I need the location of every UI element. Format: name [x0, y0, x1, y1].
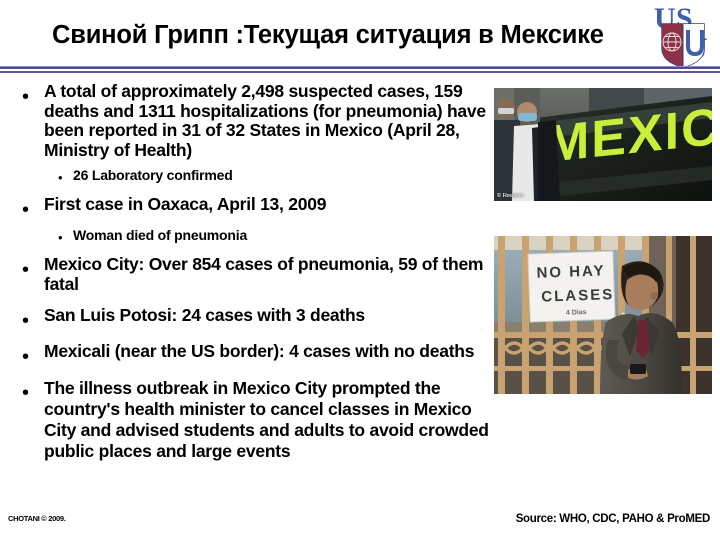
bullet-marker: • [58, 231, 73, 244]
svg-text:4 Dias: 4 Dias [566, 309, 587, 317]
list-item: • Woman died of pneumonia [22, 227, 490, 244]
photo-mexico-bus: MEXICO © Reuters © Reuters [494, 88, 712, 201]
slide-header: Свиной Грипп :Текущая ситуация в Мексике… [0, 0, 720, 72]
svg-text:CLASES: CLASES [541, 286, 614, 306]
page-title: Свиной Грипп :Текущая ситуация в Мексике [52, 22, 682, 49]
copyright-label: CHOTANI © 2009. [8, 514, 66, 523]
divider-line-bottom [0, 71, 720, 73]
bullet-marker: • [22, 383, 44, 403]
photo-credit-label: © Reuters [497, 193, 524, 199]
list-item: • The illness outbreak in Mexico City pr… [22, 378, 490, 462]
divider-line-top [0, 66, 720, 69]
bullet-list: • A total of approximately 2,498 suspect… [22, 82, 490, 473]
bullet-marker: • [22, 347, 44, 367]
bullet-marker: • [22, 260, 44, 280]
list-item: • Mexico City: Over 854 cases of pneumon… [22, 255, 490, 294]
list-item: • San Luis Potosi: 24 cases with 3 death… [22, 306, 490, 331]
list-item-label: San Luis Potosi: 24 cases with 3 deaths [44, 306, 490, 326]
list-item: • 26 Laboratory confirmed [22, 167, 490, 184]
svg-text:NO HAY: NO HAY [536, 262, 606, 281]
bullet-marker: • [22, 87, 44, 107]
bullet-marker: • [58, 171, 73, 184]
list-item-label: Mexico City: Over 854 cases of pneumonia… [44, 255, 490, 294]
list-item-label: 26 Laboratory confirmed [73, 167, 490, 183]
list-item-label: A total of approximately 2,498 suspected… [44, 82, 490, 160]
list-item-label: Woman died of pneumonia [73, 227, 490, 243]
list-item-label: The illness outbreak in Mexico City prom… [44, 378, 490, 462]
usu-shield-logo: U S U [654, 2, 712, 68]
header-divider [0, 66, 720, 75]
bullet-marker: • [22, 311, 44, 331]
list-item: • A total of approximately 2,498 suspect… [22, 82, 490, 160]
photo-no-hay-clases: NO HAY CLASES 4 Dias [494, 236, 712, 394]
list-item: • First case in Oaxaca, April 13, 2009 [22, 195, 490, 220]
source-label: Source: WHO, CDC, PAHO & ProMED [516, 513, 710, 525]
list-item-label: Mexicali (near the US border): 4 cases w… [44, 342, 490, 362]
list-item: • Mexicali (near the US border): 4 cases… [22, 342, 490, 367]
bullet-marker: • [22, 200, 44, 220]
list-item-label: First case in Oaxaca, April 13, 2009 [44, 195, 490, 215]
